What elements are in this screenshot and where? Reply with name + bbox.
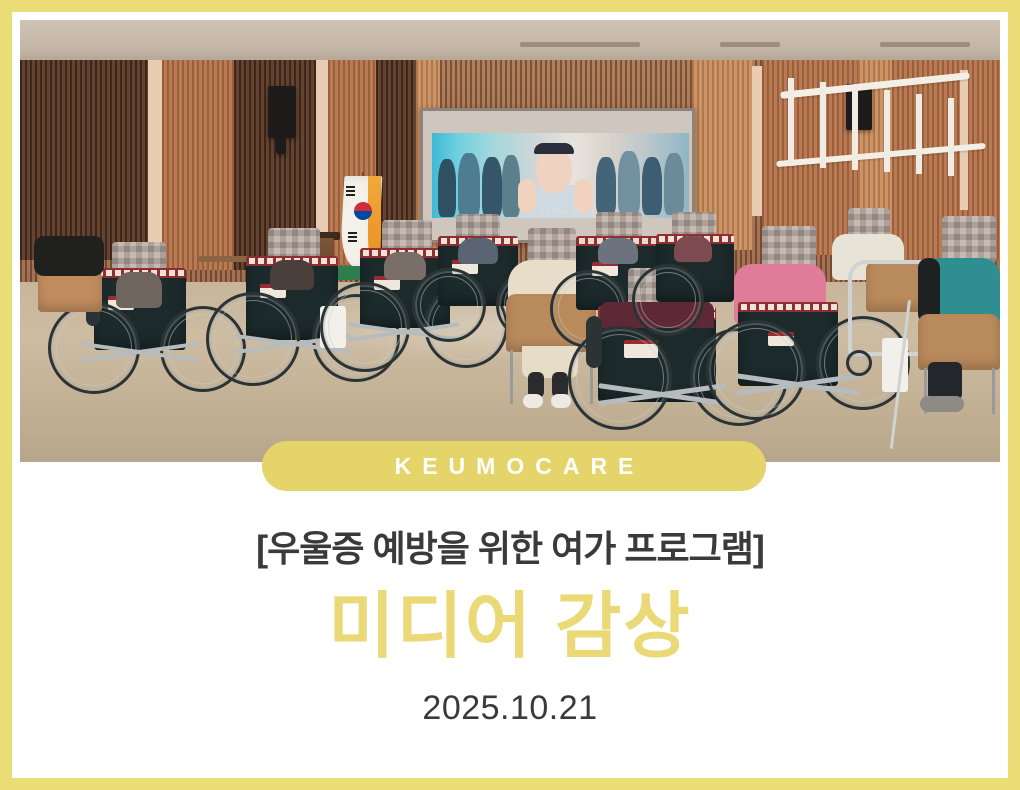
- screen-subtitle: 우리 여기요, 여기: [540, 208, 580, 215]
- badge-label: KEUMOCARE: [384, 453, 645, 480]
- screen-content: 우리 여기요, 여기: [432, 133, 689, 218]
- event-photo: 우리 여기요, 여기: [20, 20, 1000, 462]
- caption-block: [우울증 예방을 위한 여가 프로그램] 미디어 감상 2025.10.21: [12, 472, 1008, 728]
- keumocare-badge: KEUMOCARE: [262, 441, 766, 491]
- event-date: 2025.10.21: [12, 689, 1008, 728]
- speaker-left: [268, 86, 296, 138]
- poster-card: 우리 여기요, 여기: [12, 12, 1008, 778]
- program-title: 미디어 감상: [12, 588, 1008, 667]
- program-subtitle: [우울증 예방을 위한 여가 프로그램]: [12, 520, 1008, 572]
